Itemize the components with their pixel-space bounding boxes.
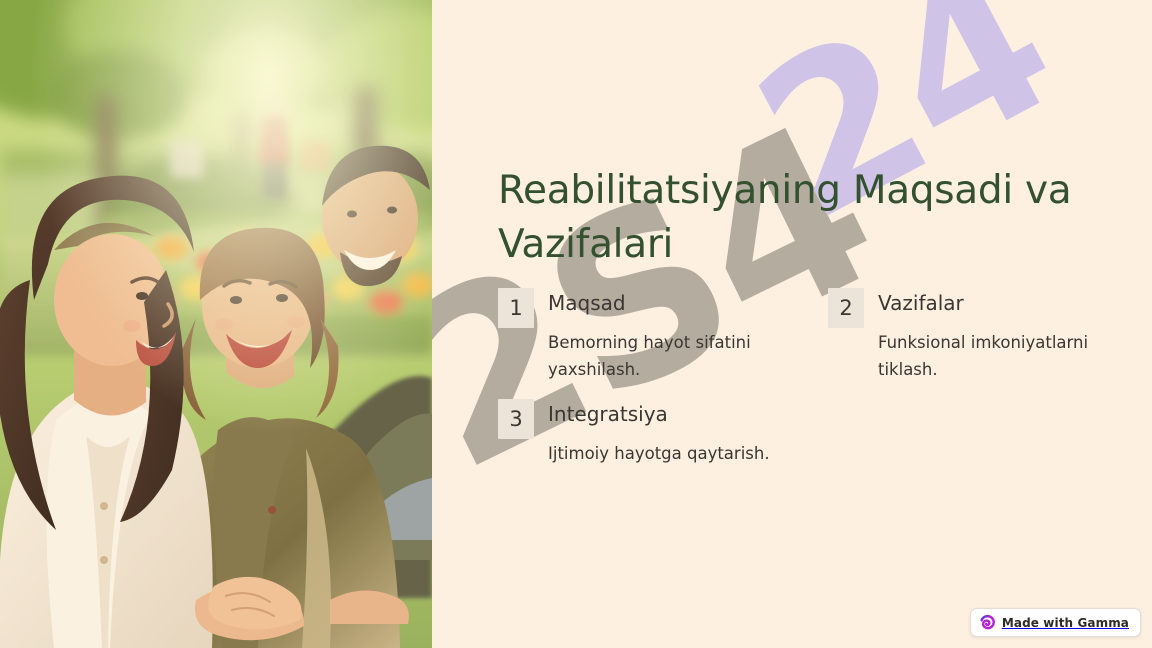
list-item: 1 Maqsad Bemorning hayot sifatini yaxshi… (498, 288, 788, 383)
list-item: 3 Integratsiya Ijtimoiy hayotga qaytaris… (498, 399, 788, 468)
item-title: Integratsiya (548, 401, 788, 427)
objectives-row-1: 1 Maqsad Bemorning hayot sifatini yaxshi… (498, 288, 1118, 383)
item-title: Maqsad (548, 290, 788, 316)
hero-photo (0, 0, 432, 648)
gamma-badge-label: Made with Gamma (1002, 616, 1129, 630)
item-body: Integratsiya Ijtimoiy hayotga qaytarish. (548, 399, 788, 468)
list-item: 2 Vazifalar Funksional imkoniyatlarni ti… (828, 288, 1118, 383)
item-number-badge: 3 (498, 399, 534, 439)
item-description: Funksional imkoniyatlarni tiklash. (878, 330, 1118, 383)
objectives-list: 1 Maqsad Bemorning hayot sifatini yaxshi… (498, 288, 1118, 484)
slide-content: Reabilitatsiyaning Maqsadi va Vazifalari… (432, 0, 1152, 648)
photo-image (0, 0, 432, 648)
gamma-logo-icon (980, 615, 995, 630)
item-number-badge: 2 (828, 288, 864, 328)
list-item-empty (828, 399, 1118, 468)
item-description: Bemorning hayot sifatini yaxshilash. (548, 330, 788, 383)
item-title: Vazifalar (878, 290, 1118, 316)
objectives-row-2: 3 Integratsiya Ijtimoiy hayotga qaytaris… (498, 399, 1118, 468)
made-with-gamma-badge[interactable]: Made with Gamma (970, 608, 1141, 637)
item-body: Maqsad Bemorning hayot sifatini yaxshila… (548, 288, 788, 383)
item-description: Ijtimoiy hayotga qaytarish. (548, 441, 788, 468)
item-body: Vazifalar Funksional imkoniyatlarni tikl… (878, 288, 1118, 383)
slide-root: 2S4 24 Reabilitatsiyaning Maqsadi va Vaz… (0, 0, 1152, 648)
page-title: Reabilitatsiyaning Maqsadi va Vazifalari (498, 164, 1088, 272)
item-number-badge: 1 (498, 288, 534, 328)
